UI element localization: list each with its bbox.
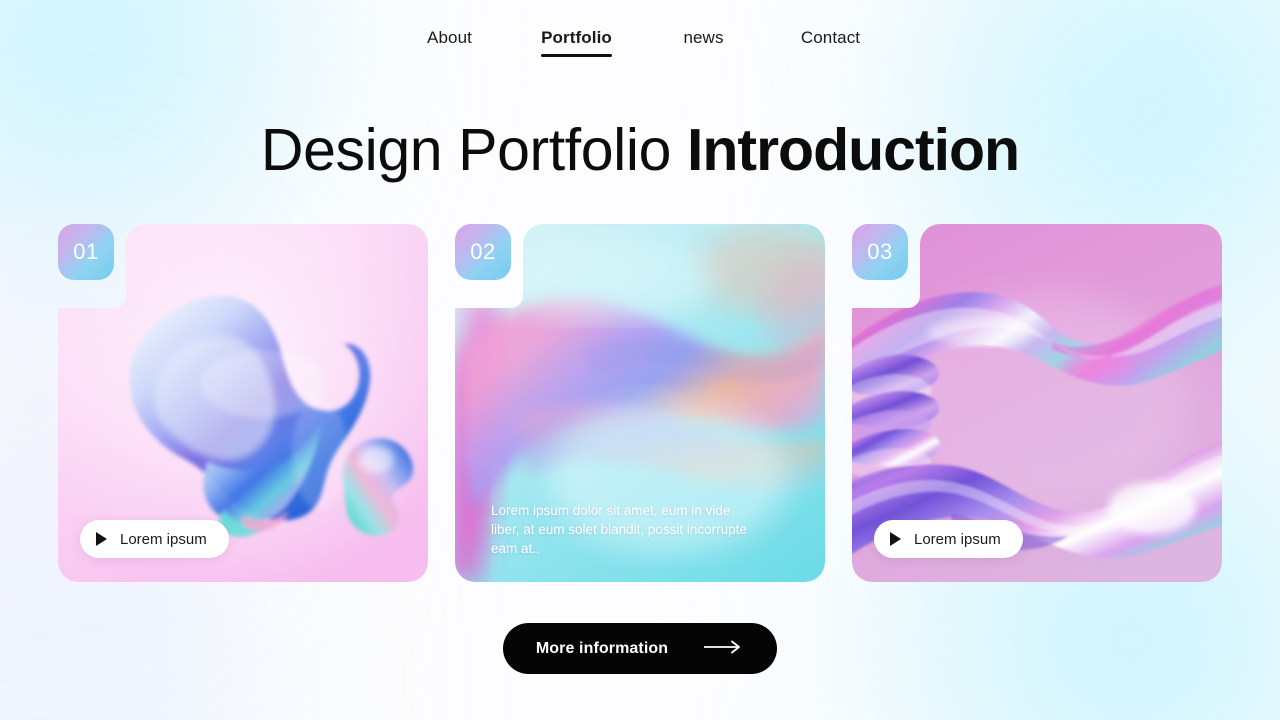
nav-item-news-label: news xyxy=(683,28,723,47)
play-icon xyxy=(890,532,901,546)
page-title-light: Design Portfolio xyxy=(261,117,687,183)
nav-item-news[interactable]: news xyxy=(683,28,723,57)
nav-item-about-label: About xyxy=(427,28,472,47)
portfolio-card-list: 01 Lorem ipsum xyxy=(58,224,1222,582)
main-navigation: About Portfolio news Contact xyxy=(0,0,1280,82)
nav-item-contact[interactable]: Contact xyxy=(801,28,860,57)
card-3-play-button[interactable]: Lorem ipsum xyxy=(874,520,1023,558)
arrow-right-icon xyxy=(704,640,744,657)
card-1-number-badge: 01 xyxy=(58,224,114,280)
card-3-number-badge: 03 xyxy=(852,224,908,280)
nav-slot-about: About xyxy=(386,28,513,57)
card-2-number-badge: 02 xyxy=(455,224,511,280)
more-information-button[interactable]: More information xyxy=(503,623,777,674)
portfolio-card-2[interactable]: 02 Lorem ipsum dolor sit amet, eum in vi… xyxy=(455,224,825,582)
nav-item-portfolio-label: Portfolio xyxy=(541,28,612,47)
card-3-number: 03 xyxy=(867,239,892,265)
play-icon xyxy=(96,532,107,546)
nav-slot-contact: Contact xyxy=(767,28,894,57)
card-1-number: 01 xyxy=(73,239,98,265)
page-title-bold: Introduction xyxy=(687,117,1019,183)
nav-slot-news: news xyxy=(640,28,767,57)
nav-active-underline xyxy=(541,54,612,57)
card-2-overlay-text: Lorem ipsum dolor sit amet, eum in vide … xyxy=(491,501,759,558)
more-information-label: More information xyxy=(536,640,668,658)
page-title: Design Portfolio Introduction xyxy=(0,113,1280,187)
portfolio-card-1[interactable]: 01 Lorem ipsum xyxy=(58,224,428,582)
card-2-number: 02 xyxy=(470,239,495,265)
nav-item-about[interactable]: About xyxy=(427,28,472,57)
nav-item-contact-label: Contact xyxy=(801,28,860,47)
nav-item-portfolio[interactable]: Portfolio xyxy=(541,28,612,57)
card-3-button-label: Lorem ipsum xyxy=(914,531,1001,548)
card-1-play-button[interactable]: Lorem ipsum xyxy=(80,520,229,558)
card-1-button-label: Lorem ipsum xyxy=(120,531,207,548)
nav-slot-portfolio: Portfolio xyxy=(513,28,640,57)
portfolio-card-3[interactable]: 03 Lorem ipsum xyxy=(852,224,1222,582)
